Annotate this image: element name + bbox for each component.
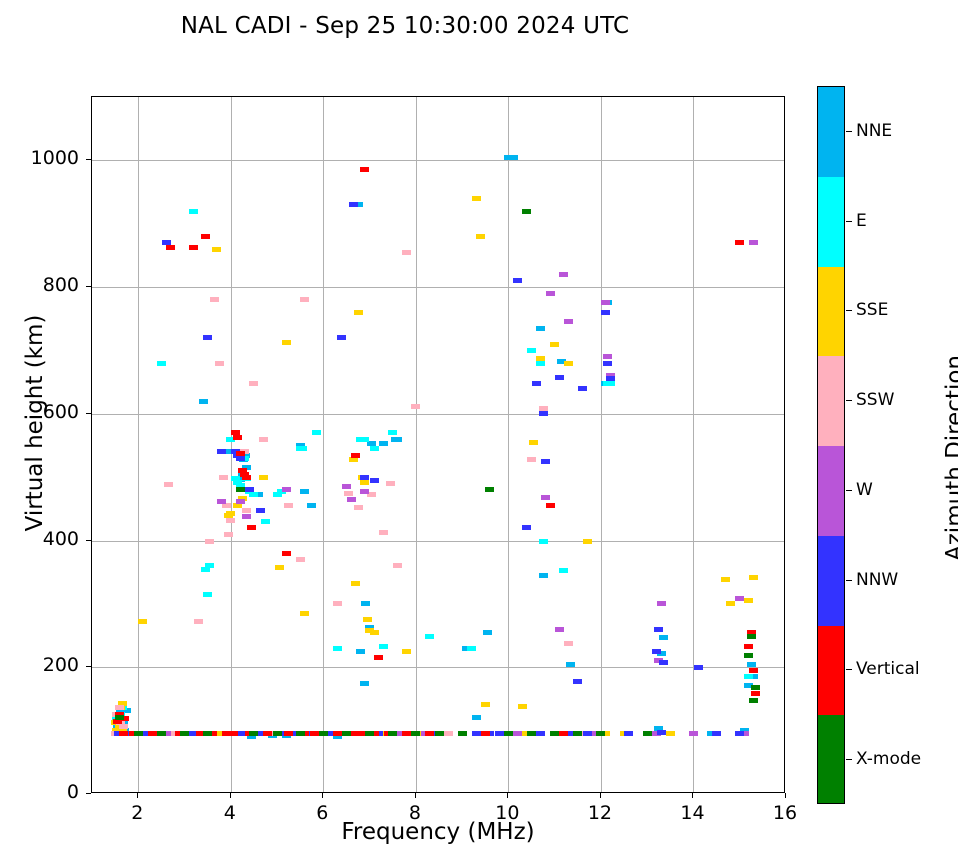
- y-axis-label: Virtual height (km): [22, 258, 48, 588]
- scatter-point: [393, 563, 402, 568]
- scatter-point: [402, 250, 411, 255]
- scatter-point: [134, 731, 143, 736]
- scatter-point: [559, 272, 568, 277]
- scatter-point: [444, 731, 453, 736]
- colorbar-label-ssw: SSW: [856, 390, 894, 410]
- scatter-point: [275, 565, 284, 570]
- scatter-point: [566, 662, 575, 667]
- scatter-point: [559, 731, 568, 736]
- colorbar-tick-mark: [846, 759, 852, 760]
- scatter-point: [472, 731, 481, 736]
- x-tick-mark: [415, 793, 416, 798]
- scatter-point: [360, 167, 369, 172]
- scatter-point: [573, 731, 582, 736]
- x-tick-mark: [137, 793, 138, 798]
- scatter-point: [539, 573, 548, 578]
- colorbar-title: Azimuth Direction: [942, 293, 958, 623]
- scatter-point: [606, 376, 615, 381]
- scatter-point: [226, 518, 235, 523]
- scatter-point: [201, 234, 210, 239]
- scatter-point: [379, 644, 388, 649]
- scatter-point: [222, 503, 231, 508]
- scatter-point: [249, 492, 258, 497]
- colorbar-segment-w[interactable]: [818, 446, 844, 536]
- scatter-point: [435, 731, 444, 736]
- colorbar-tick-mark: [846, 490, 852, 491]
- scatter-point: [319, 731, 328, 736]
- scatter-point: [296, 557, 305, 562]
- scatter-point: [259, 475, 268, 480]
- colorbar-tick-mark: [846, 400, 852, 401]
- colorbar-segment-ssw[interactable]: [818, 356, 844, 446]
- scatter-point: [242, 475, 251, 480]
- x-tick-mark: [600, 793, 601, 798]
- gridline-vertical: [231, 97, 232, 792]
- scatter-point: [203, 592, 212, 597]
- scatter-point: [522, 525, 531, 530]
- scatter-point: [573, 679, 582, 684]
- scatter-point: [509, 155, 518, 160]
- scatter-point: [189, 209, 198, 214]
- scatter-point: [229, 731, 238, 736]
- scatter-point: [356, 649, 365, 654]
- scatter-point: [312, 430, 321, 435]
- gridline-vertical: [138, 97, 139, 792]
- scatter-point: [550, 731, 559, 736]
- scatter-point: [603, 361, 612, 366]
- scatter-point: [310, 731, 319, 736]
- scatter-point: [119, 724, 128, 729]
- scatter-point: [236, 487, 245, 492]
- scatter-point: [273, 731, 282, 736]
- scatter-point: [657, 730, 666, 735]
- scatter-point: [205, 539, 214, 544]
- scatter-point: [115, 705, 124, 710]
- scatter-point: [370, 630, 379, 635]
- colorbar-segment-nnw[interactable]: [818, 536, 844, 626]
- scatter-point: [360, 489, 369, 494]
- scatter-point: [643, 731, 652, 736]
- scatter-point: [300, 297, 309, 302]
- scatter-point: [189, 245, 198, 250]
- x-tick-mark: [322, 793, 323, 798]
- scatter-point: [546, 503, 555, 508]
- scatter-point: [296, 731, 305, 736]
- scatter-point: [467, 646, 476, 651]
- scatter-point: [527, 457, 536, 462]
- scatter-point: [481, 731, 490, 736]
- scatter-point: [217, 449, 226, 454]
- scatter-point: [180, 731, 189, 736]
- scatter-point: [654, 627, 663, 632]
- scatter-point: [370, 478, 379, 483]
- scatter-point: [744, 653, 753, 658]
- y-tick-mark: [86, 413, 91, 414]
- scatter-point: [458, 731, 467, 736]
- scatter-point: [735, 731, 744, 736]
- colorbar-tick-mark: [846, 221, 852, 222]
- scatter-point: [601, 310, 610, 315]
- y-tick-label: 200: [9, 654, 79, 676]
- scatter-point: [282, 487, 291, 492]
- scatter-point: [659, 635, 668, 640]
- scatter-point: [527, 731, 536, 736]
- scatter-point: [236, 451, 245, 456]
- scatter-point: [236, 499, 245, 504]
- gridline-vertical: [323, 97, 324, 792]
- scatter-point: [411, 404, 420, 409]
- colorbar-label-vertical: Vertical: [856, 659, 920, 679]
- scatter-point: [603, 354, 612, 359]
- scatter-point: [606, 381, 615, 386]
- colorbar-tick-mark: [846, 580, 852, 581]
- scatter-point: [529, 440, 538, 445]
- y-tick-mark: [86, 666, 91, 667]
- colorbar-label-nne: NNE: [856, 121, 892, 141]
- colorbar-label-nnw: NNW: [856, 570, 898, 590]
- scatter-point: [284, 503, 293, 508]
- scatter-point: [148, 731, 157, 736]
- colorbar-tick-mark: [846, 310, 852, 311]
- scatter-point: [363, 617, 372, 622]
- gridline-horizontal: [92, 287, 784, 288]
- scatter-point: [483, 630, 492, 635]
- scatter-point: [242, 514, 251, 519]
- scatter-point: [564, 319, 573, 324]
- gridline-horizontal: [92, 667, 784, 668]
- scatter-point: [504, 731, 513, 736]
- scatter-point: [513, 731, 522, 736]
- x-axis-label: Frequency (MHz): [91, 819, 785, 845]
- scatter-point: [138, 619, 147, 624]
- scatter-point: [749, 698, 758, 703]
- x-tick-mark: [230, 793, 231, 798]
- scatter-point: [550, 342, 559, 347]
- colorbar-label-sse: SSE: [856, 300, 888, 320]
- scatter-point: [744, 598, 753, 603]
- scatter-point: [374, 655, 383, 660]
- colorbar-tick-mark: [846, 669, 852, 670]
- scatter-point: [749, 240, 758, 245]
- y-tick-mark: [86, 159, 91, 160]
- scatter-point: [333, 731, 342, 736]
- scatter-point: [712, 731, 721, 736]
- scatter-point: [536, 731, 545, 736]
- scatter-point: [300, 611, 309, 616]
- scatter-point: [379, 530, 388, 535]
- scatter-point: [411, 731, 420, 736]
- scatter-point: [539, 411, 548, 416]
- scatter-point: [349, 202, 358, 207]
- scatter-point: [219, 475, 228, 480]
- y-tick-mark: [86, 793, 91, 794]
- scatter-point: [333, 601, 342, 606]
- scatter-point: [481, 702, 490, 707]
- scatter-point: [559, 568, 568, 573]
- scatter-point: [347, 497, 356, 502]
- scatter-point: [583, 731, 592, 736]
- scatter-point: [261, 519, 270, 524]
- scatter-point: [199, 399, 208, 404]
- scatter-point: [284, 731, 293, 736]
- scatter-point: [370, 446, 379, 451]
- scatter-point: [747, 662, 756, 667]
- scatter-point: [578, 386, 587, 391]
- scatter-point: [666, 731, 675, 736]
- scatter-point: [236, 456, 245, 461]
- scatter-point: [536, 326, 545, 331]
- scatter-point: [583, 539, 592, 544]
- scatter-point: [194, 619, 203, 624]
- scatter-point: [298, 446, 307, 451]
- scatter-point: [388, 430, 397, 435]
- scatter-point: [233, 503, 242, 508]
- scatter-point: [386, 481, 395, 486]
- scatter-point: [256, 508, 265, 513]
- scatter-point: [744, 644, 753, 649]
- scatter-point: [513, 278, 522, 283]
- ionogram-figure: NAL CADI - Sep 25 10:30:00 2024 UTC 2468…: [0, 0, 958, 857]
- scatter-point: [555, 627, 564, 632]
- scatter-point: [726, 601, 735, 606]
- gridline-vertical: [508, 97, 509, 792]
- scatter-point: [356, 731, 365, 736]
- scatter-point: [541, 459, 550, 464]
- scatter-point: [751, 685, 760, 690]
- scatter-point: [215, 361, 224, 366]
- colorbar-segment-nne[interactable]: [818, 87, 844, 177]
- scatter-point: [360, 480, 369, 485]
- y-tick-mark: [86, 286, 91, 287]
- scatter-point: [402, 731, 411, 736]
- scatter-point: [333, 646, 342, 651]
- gridline-horizontal: [92, 160, 784, 161]
- scatter-point: [245, 487, 254, 492]
- scatter-point: [601, 300, 610, 305]
- scatter-point: [657, 601, 666, 606]
- scatter-point: [485, 487, 494, 492]
- scatter-point: [344, 491, 353, 496]
- scatter-point: [624, 731, 633, 736]
- scatter-point: [115, 715, 124, 720]
- gridline-vertical: [416, 97, 417, 792]
- colorbar-segment-x-mode[interactable]: [818, 715, 844, 804]
- scatter-point: [596, 731, 605, 736]
- plot-area[interactable]: [91, 96, 785, 793]
- scatter-point: [217, 499, 226, 504]
- scatter-point: [735, 596, 744, 601]
- scatter-point: [349, 457, 358, 462]
- scatter-point: [263, 731, 272, 736]
- page-title: NAL CADI - Sep 25 10:30:00 2024 UTC: [0, 13, 810, 39]
- scatter-point: [360, 475, 369, 480]
- y-tick-mark: [86, 540, 91, 541]
- scatter-point: [659, 660, 668, 665]
- scatter-point: [721, 577, 730, 582]
- scatter-point: [203, 335, 212, 340]
- scatter-point: [532, 381, 541, 386]
- scatter-point: [402, 649, 411, 654]
- scatter-point: [749, 668, 758, 673]
- scatter-point: [564, 361, 573, 366]
- scatter-point: [166, 245, 175, 250]
- scatter-point: [425, 634, 434, 639]
- scatter-point: [751, 691, 760, 696]
- scatter-point: [361, 601, 370, 606]
- scatter-point: [351, 453, 360, 458]
- scatter-point: [689, 731, 698, 736]
- scatter-point: [652, 649, 661, 654]
- scatter-point: [749, 575, 758, 580]
- scatter-point: [472, 196, 481, 201]
- scatter-point: [224, 532, 233, 537]
- y-tick-label: 0: [9, 781, 79, 803]
- colorbar-label-x-mode: X-mode: [856, 749, 921, 769]
- scatter-point: [495, 731, 504, 736]
- scatter-point: [541, 495, 550, 500]
- colorbar-segment-e[interactable]: [818, 177, 844, 267]
- scatter-point: [539, 539, 548, 544]
- scatter-point: [747, 634, 756, 639]
- scatter-point: [249, 381, 258, 386]
- scatter-point: [210, 297, 219, 302]
- scatter-point: [476, 234, 485, 239]
- x-tick-mark: [507, 793, 508, 798]
- scatter-point: [744, 674, 753, 679]
- scatter-point: [527, 348, 536, 353]
- scatter-point: [354, 310, 363, 315]
- scatter-point: [119, 731, 128, 736]
- scatter-point: [157, 361, 166, 366]
- scatter-point: [300, 489, 309, 494]
- scatter-point: [564, 641, 573, 646]
- scatter-point: [212, 247, 221, 252]
- scatter-point: [242, 508, 251, 513]
- colorbar-label-e: E: [856, 211, 867, 231]
- scatter-point: [694, 665, 703, 670]
- scatter-point: [205, 563, 214, 568]
- scatter-point: [735, 240, 744, 245]
- scatter-point: [555, 375, 564, 380]
- colorbar[interactable]: [817, 86, 845, 804]
- gridline-horizontal: [92, 414, 784, 415]
- scatter-point: [472, 715, 481, 720]
- scatter-point: [226, 511, 235, 516]
- scatter-point: [360, 681, 369, 686]
- scatter-point: [546, 291, 555, 296]
- gridline-horizontal: [92, 541, 784, 542]
- scatter-point: [247, 525, 256, 530]
- scatter-point: [337, 335, 346, 340]
- scatter-point: [351, 581, 360, 586]
- scatter-point: [360, 437, 369, 442]
- scatter-point: [282, 551, 291, 556]
- colorbar-segment-vertical[interactable]: [818, 626, 844, 716]
- scatter-point: [379, 441, 388, 446]
- scatter-point: [354, 505, 363, 510]
- scatter-point: [522, 209, 531, 214]
- scatter-point: [307, 503, 316, 508]
- scatter-point: [388, 731, 397, 736]
- scatter-point: [203, 731, 212, 736]
- colorbar-tick-mark: [846, 131, 852, 132]
- scatter-point: [536, 356, 545, 361]
- scatter-point: [393, 437, 402, 442]
- scatter-point: [233, 435, 242, 440]
- x-tick-mark: [692, 793, 693, 798]
- x-tick-mark: [785, 793, 786, 798]
- colorbar-label-w: W: [856, 480, 873, 500]
- scatter-point: [282, 340, 291, 345]
- gridline-vertical: [693, 97, 694, 792]
- scatter-point: [342, 484, 351, 489]
- gridline-vertical: [601, 97, 602, 792]
- scatter-point: [259, 437, 268, 442]
- y-tick-label: 1000: [9, 147, 79, 169]
- scatter-point: [425, 731, 434, 736]
- scatter-point: [249, 731, 258, 736]
- scatter-point: [365, 731, 374, 736]
- scatter-point: [164, 482, 173, 487]
- scatter-point: [518, 704, 527, 709]
- scatter-point: [536, 361, 545, 366]
- scatter-point: [342, 731, 351, 736]
- colorbar-segment-sse[interactable]: [818, 267, 844, 357]
- scatter-point: [157, 731, 166, 736]
